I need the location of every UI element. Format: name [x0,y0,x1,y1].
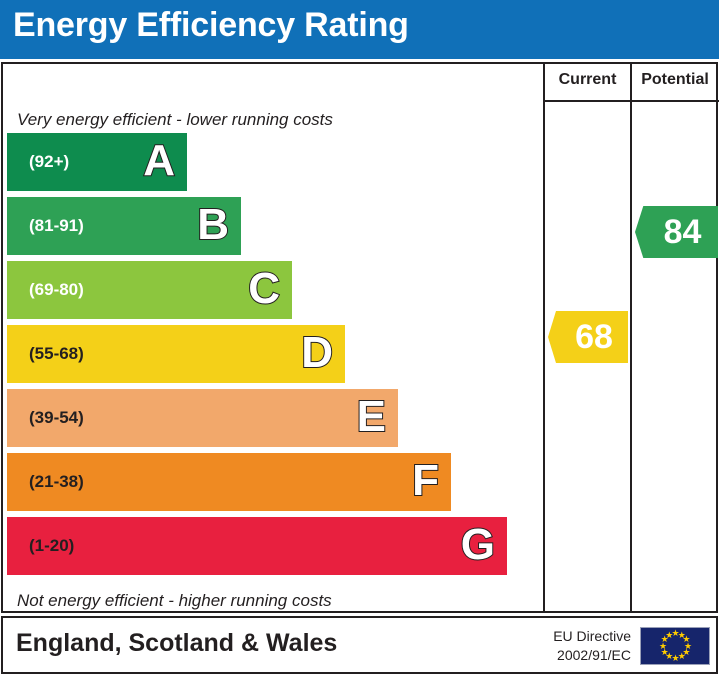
band-letter-d: D [301,331,333,375]
eu-flag-icon: ★★★★★★★★★★★★ [640,627,710,665]
band-range-c: (69-80) [29,280,84,300]
band-range-f: (21-38) [29,472,84,492]
band-letter-e: E [357,395,386,439]
current-rating-marker: 68 [548,311,628,363]
band-row-g: (1-20)G [7,517,507,575]
footer-region-label: England, Scotland & Wales [16,629,337,658]
band-range-b: (81-91) [29,216,84,236]
band-letter-g: G [461,523,495,567]
band-row-a: (92+)A [7,133,187,191]
energy-efficiency-rating-chart: Energy Efficiency Rating Current Potenti… [0,0,719,675]
column-divider-potential [630,64,632,611]
page-title: Energy Efficiency Rating [13,6,409,45]
caption-top: Very energy efficient - lower running co… [17,110,333,130]
column-header-potential: Potential [632,71,718,89]
footer-directive-label: EU Directive 2002/91/EC [521,627,631,665]
band-row-f: (21-38)F [7,453,451,511]
band-letter-f: F [412,459,439,503]
band-row-d: (55-68)D [7,325,345,383]
column-header-current: Current [545,71,630,89]
band-row-c: (69-80)C [7,261,292,319]
band-range-g: (1-20) [29,536,74,556]
band-letter-b: B [197,203,229,247]
band-range-d: (55-68) [29,344,84,364]
eu-star-icon: ★ [665,632,672,639]
band-row-e: (39-54)E [7,389,398,447]
current-rating-value: 68 [563,320,613,354]
chart-header-bar: Energy Efficiency Rating [0,0,719,59]
potential-rating-value: 84 [652,215,702,249]
directive-line-1: EU Directive [521,627,631,646]
band-letter-a: A [143,139,175,183]
band-bars-container: (92+)A(81-91)B(69-80)C(55-68)D(39-54)E(2… [5,133,541,585]
chart-footer: England, Scotland & Wales EU Directive 2… [1,616,718,674]
directive-line-2: 2002/91/EC [521,646,631,665]
potential-rating-marker: 84 [635,206,718,258]
column-divider-current [543,64,545,611]
caption-bottom: Not energy efficient - higher running co… [17,591,332,611]
band-range-a: (92+) [29,152,69,172]
band-row-b: (81-91)B [7,197,241,255]
rating-table: Current Potential Very energy efficient … [1,62,718,613]
band-letter-c: C [248,267,280,311]
band-range-e: (39-54) [29,408,84,428]
header-row-divider [543,100,719,102]
